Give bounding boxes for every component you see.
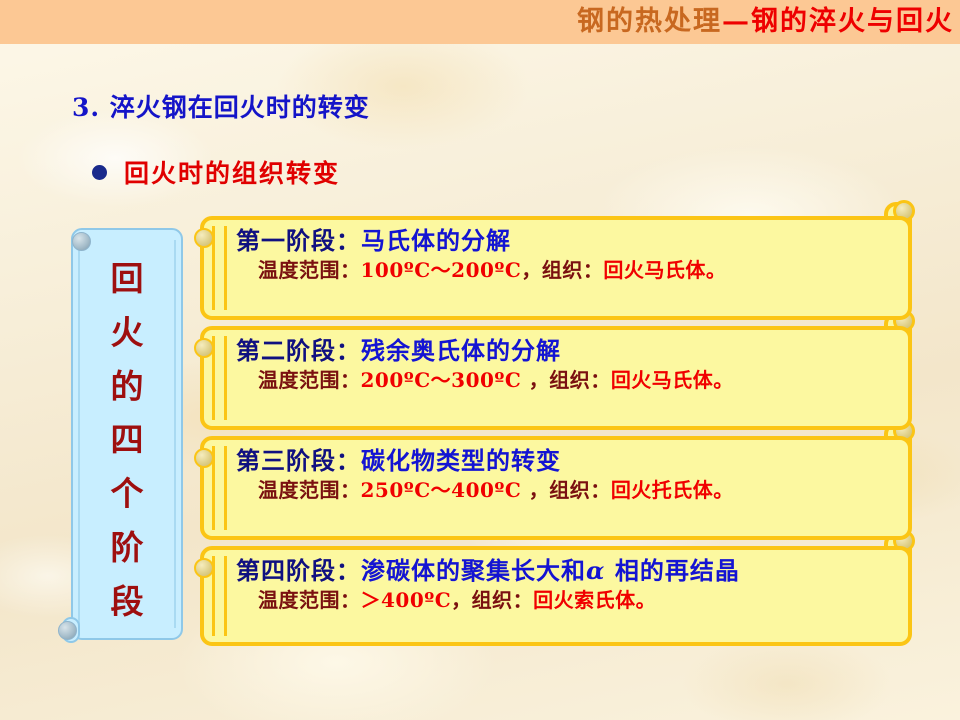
scroll-curl-icon-left-1 bbox=[194, 228, 214, 248]
stage-content-4: 第四阶段：渗碳体的聚集长大和α 相的再结晶 温度范围：＞400ºC，组织：回火索… bbox=[236, 557, 894, 635]
stage-detail-3: 温度范围：250ºC～400ºC ，组织：回火托氏体。 bbox=[236, 478, 894, 503]
scroll-curl-icon-side-bottom bbox=[58, 621, 77, 640]
side-scroll-char-7: 段 bbox=[111, 585, 144, 618]
header-title-part2: 钢的淬火与回火 bbox=[751, 6, 954, 37]
side-scroll-label: 回 火 的 四 个 阶 段 bbox=[73, 252, 181, 628]
stage-temp-value-4: ＞400ºC bbox=[361, 588, 452, 612]
stage-content-3: 第三阶段：碳化物类型的转变 温度范围：250ºC～400ºC ，组织：回火托氏体… bbox=[236, 447, 894, 529]
stage-title-label-2: 第二阶段： bbox=[236, 336, 361, 365]
stage-title-value-2: 残余奥氏体的分解 bbox=[361, 336, 561, 365]
stage-title-value-post-4: 相的再结晶 bbox=[605, 556, 739, 585]
side-scroll-char-1: 回 bbox=[111, 262, 144, 295]
alpha-symbol: α bbox=[586, 556, 605, 585]
side-scroll-char-5: 个 bbox=[111, 477, 144, 510]
stage-structure-value-3: 回火托氏体。 bbox=[611, 478, 734, 502]
stage-structure-label-1: ，组织： bbox=[521, 258, 603, 282]
stage-title-4: 第四阶段：渗碳体的聚集长大和α 相的再结晶 bbox=[236, 557, 894, 585]
stage-panel-2: 第二阶段：残余奥氏体的分解 温度范围：200ºC～300ºC ，组织：回火马氏体… bbox=[200, 326, 912, 430]
side-scroll-char-2: 火 bbox=[111, 316, 144, 349]
stage-temp-label-3: 温度范围： bbox=[258, 478, 361, 502]
stage-structure-label-2: ，组织： bbox=[521, 368, 610, 392]
stage-title-3: 第三阶段：碳化物类型的转变 bbox=[236, 447, 894, 475]
stage-title-value-3: 碳化物类型的转变 bbox=[361, 446, 561, 475]
page-title: 3. 淬火钢在回火时的转变 bbox=[72, 88, 370, 124]
stage-temp-label-2: 温度范围： bbox=[258, 368, 361, 392]
stage-title-2: 第二阶段：残余奥氏体的分解 bbox=[236, 337, 894, 365]
side-scroll-char-6: 阶 bbox=[111, 531, 144, 564]
stage-structure-label-4: ，组织： bbox=[451, 588, 533, 612]
bullet-circle-icon bbox=[92, 165, 107, 180]
stage-detail-2: 温度范围：200ºC～300ºC ，组织：回火马氏体。 bbox=[236, 368, 894, 393]
slide-canvas: 钢的热处理—钢的淬火与回火 3. 淬火钢在回火时的转变 回火时的组织转变 回 火… bbox=[0, 0, 960, 720]
stage-structure-label-3: ，组织： bbox=[521, 478, 610, 502]
stage-title-1: 第一阶段：马氏体的分解 bbox=[236, 227, 894, 255]
side-scroll-char-4: 四 bbox=[111, 423, 144, 456]
subheading-label: 回火时的组织转变 bbox=[124, 154, 340, 190]
scroll-curl-icon-left-4 bbox=[194, 558, 214, 578]
stage-temp-label-4: 温度范围： bbox=[258, 588, 361, 612]
panel-left-roll-4 bbox=[212, 556, 227, 636]
scroll-curl-icon-left-3 bbox=[194, 448, 214, 468]
stage-temp-value-2: 200ºC～300ºC bbox=[361, 368, 522, 392]
side-scroll-banner: 回 火 的 四 个 阶 段 bbox=[71, 228, 183, 640]
header-title-dash: — bbox=[722, 6, 751, 37]
stage-detail-1: 温度范围：100ºC～200ºC，组织：回火马氏体。 bbox=[236, 258, 894, 283]
stage-panel-1: 第一阶段：马氏体的分解 温度范围：100ºC～200ºC，组织：回火马氏体。 bbox=[200, 216, 912, 320]
stage-structure-value-4: 回火索氏体。 bbox=[533, 588, 656, 612]
scroll-curl-icon-left-2 bbox=[194, 338, 214, 358]
header-title-part1: 钢的热处理 bbox=[577, 6, 722, 37]
stage-content-2: 第二阶段：残余奥氏体的分解 温度范围：200ºC～300ºC ，组织：回火马氏体… bbox=[236, 337, 894, 419]
stage-panel-4: 第四阶段：渗碳体的聚集长大和α 相的再结晶 温度范围：＞400ºC，组织：回火索… bbox=[200, 546, 912, 646]
stage-temp-label-1: 温度范围： bbox=[258, 258, 361, 282]
stage-title-value-1: 马氏体的分解 bbox=[361, 226, 511, 255]
panel-left-roll-3 bbox=[212, 446, 227, 530]
stage-content-1: 第一阶段：马氏体的分解 温度范围：100ºC～200ºC，组织：回火马氏体。 bbox=[236, 227, 894, 309]
stage-title-label-3: 第三阶段： bbox=[236, 446, 361, 475]
subheading-row: 回火时的组织转变 bbox=[92, 154, 340, 190]
panel-left-roll-2 bbox=[212, 336, 227, 420]
stage-title-value-pre-4: 渗碳体的聚集长大和 bbox=[361, 556, 586, 585]
scroll-curl-icon-side-top bbox=[72, 232, 91, 251]
stage-panel-3: 第三阶段：碳化物类型的转变 温度范围：250ºC～400ºC ，组织：回火托氏体… bbox=[200, 436, 912, 540]
stage-title-label-1: 第一阶段： bbox=[236, 226, 361, 255]
side-scroll-char-3: 的 bbox=[111, 370, 144, 403]
stage-temp-value-1: 100ºC～200ºC bbox=[361, 258, 522, 282]
panel-left-roll-1 bbox=[212, 226, 227, 310]
stage-structure-value-1: 回火马氏体。 bbox=[603, 258, 726, 282]
stage-title-label-4: 第四阶段： bbox=[236, 556, 361, 585]
stage-structure-value-2: 回火马氏体。 bbox=[611, 368, 734, 392]
stage-temp-value-3: 250ºC～400ºC bbox=[361, 478, 522, 502]
header-band: 钢的热处理—钢的淬火与回火 bbox=[0, 0, 960, 44]
header-title: 钢的热处理—钢的淬火与回火 bbox=[577, 2, 954, 42]
stage-detail-4: 温度范围：＞400ºC，组织：回火索氏体。 bbox=[236, 588, 894, 613]
